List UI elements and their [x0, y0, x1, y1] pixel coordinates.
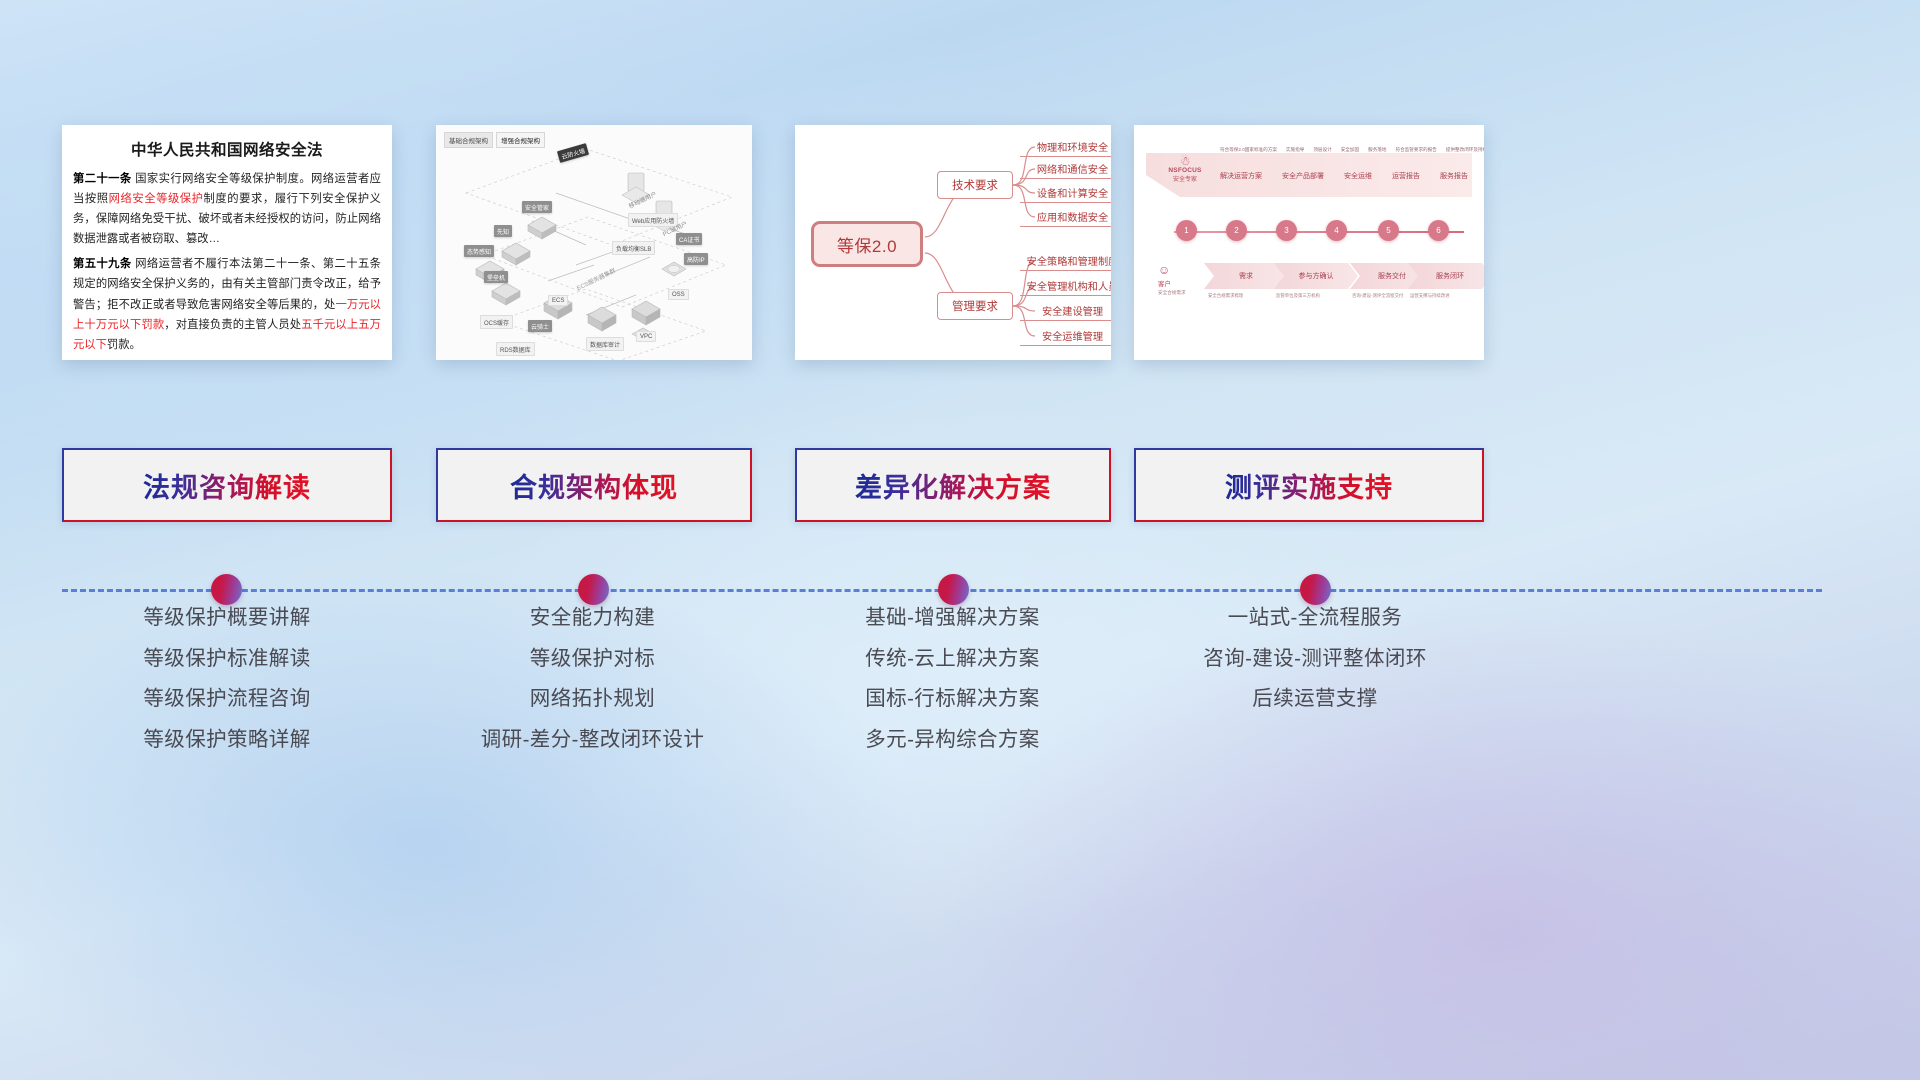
nsfocus-chevron-sub: 运营支撑与持续改进 — [1410, 293, 1450, 299]
preview-cards-row: 中华人民共和国网络安全法 第二十一条 国家实行网络安全等级保护制度。网络运营者应… — [0, 125, 1920, 365]
list-item: 一站式-全流程服务 — [1130, 608, 1500, 629]
nsfocus-step-dot: 1 — [1176, 220, 1197, 241]
nsfocus-step-dot: 3 — [1276, 220, 1297, 241]
card-cybersecurity-law[interactable]: 中华人民共和国网络安全法 第二十一条 国家实行网络安全等级保护制度。网络运营者应… — [62, 125, 392, 360]
list-item: 等级保护策略详解 — [62, 730, 392, 751]
section-titles-row: 法规咨询解读 合规架构体现 差异化解决方案 测评实施支持 — [0, 448, 1920, 522]
list-item: 多元-异构综合方案 — [790, 730, 1115, 751]
feature-list-assessment-support: 一站式-全流程服务 咨询-建设-测评整体闭环 后续运营支撑 — [1130, 608, 1500, 730]
feature-lists-row: 等级保护概要讲解 等级保护标准解读 等级保护流程咨询 等级保护策略详解 安全能力… — [0, 608, 1920, 828]
list-item: 等级保护流程咨询 — [62, 689, 392, 710]
arch-node-ocs-cache: OCS缓存 — [480, 315, 513, 329]
section-title-text: 法规咨询解读 — [143, 466, 311, 505]
list-item: 等级保护标准解读 — [62, 649, 392, 670]
nsfocus-brand-line1: NSFOCUS — [1156, 167, 1214, 174]
law-article-number: 第二十一条 — [73, 173, 132, 185]
arch-node-xianzhi: 先知 — [494, 225, 512, 237]
law-text-segment: ，对直接负责的主管人员处 — [164, 319, 301, 331]
mindmap-leaf: 安全策略和管理制度 — [1020, 253, 1111, 271]
list-item: 安全能力构建 — [420, 608, 765, 629]
nsfocus-brand-line2: 安全专家 — [1156, 174, 1214, 183]
list-item: 咨询-建设-测评整体闭环 — [1130, 649, 1500, 670]
list-item: 网络拓扑规划 — [420, 689, 765, 710]
nsfocus-top-tag-list: 符合等保2.0国家标准的方案 实施指导 顶层设计 安全加固 服务落地 符合监管要… — [1220, 147, 1484, 153]
nsfocus-chevron-sub: 安全合规需求梳理 — [1208, 293, 1243, 299]
section-title-box-regulation-consulting[interactable]: 法规咨询解读 — [62, 448, 392, 522]
section-title-box-compliance-architecture[interactable]: 合规架构体现 — [436, 448, 752, 522]
arch-node-oss: OSS — [668, 289, 689, 300]
architecture-diagram: 基础合规架构 增强合规架构 — [436, 125, 752, 360]
mindmap: 等保2.0 技术要求 管理要求 物理和环境安全 网络和通信安全 设备和计算安全 … — [795, 125, 1111, 360]
timeline-dot-3 — [938, 574, 969, 605]
mindmap-leaf: 设备和计算安全 — [1020, 185, 1111, 203]
nsfocus-top-tag: 安全加固 — [1341, 147, 1359, 153]
nsfocus-top-tag: 顶层设计 — [1313, 147, 1331, 153]
card-nsfocus-timeline[interactable]: ☃ NSFOCUS 安全专家 符合等保2.0国家标准的方案 实施指导 顶层设计 … — [1134, 125, 1484, 360]
law-paragraph: 第二十一条 国家实行网络安全等级保护制度。网络运营者应当按照网络安全等级保护制度… — [73, 169, 381, 249]
mindmap-root-node: 等保2.0 — [811, 221, 923, 267]
law-article-number: 第五十九条 — [73, 258, 132, 270]
list-item: 等级保护对标 — [420, 649, 765, 670]
feature-list-differentiated-solutions: 基础-增强解决方案 传统-云上解决方案 国标-行标解决方案 多元-异构综合方案 — [790, 608, 1115, 770]
nsfocus-step-dot: 5 — [1378, 220, 1399, 241]
law-text-highlight: 网络安全等级保护 — [109, 193, 204, 205]
section-title-box-differentiated-solutions[interactable]: 差异化解决方案 — [795, 448, 1111, 522]
nsfocus-mid-tag-list: 解决运营方案 安全产品部署 安全运维 运营报告 服务报告 — [1220, 171, 1468, 181]
mindmap-leaf: 安全管理机构和人员 — [1020, 278, 1111, 296]
timeline-dot-4 — [1300, 574, 1331, 605]
nsfocus-top-tag: 符合等保2.0国家标准的方案 — [1220, 147, 1277, 153]
list-item: 调研-差分-整改闭环设计 — [420, 730, 765, 751]
nsfocus-mid-tag: 解决运营方案 — [1220, 171, 1262, 181]
nsfocus-chevron: 服务闭环 — [1408, 263, 1484, 289]
list-item: 基础-增强解决方案 — [790, 608, 1115, 629]
arch-node-rds-database: RDS数据库 — [496, 342, 535, 356]
arch-node-situation-awareness: 态势感知 — [464, 245, 494, 257]
nsfocus-diagram: ☃ NSFOCUS 安全专家 符合等保2.0国家标准的方案 实施指导 顶层设计 … — [1134, 125, 1484, 360]
mindmap-leaf: 应用和数据安全 — [1020, 209, 1111, 227]
arch-node-bastion-host: 堡垒机 — [484, 271, 508, 283]
law-text-segment: 罚款。 — [107, 339, 141, 351]
section-title-text: 合规架构体现 — [510, 466, 678, 505]
list-item: 传统-云上解决方案 — [790, 649, 1115, 670]
timeline-connector — [0, 570, 1920, 610]
arch-node-database-audit: 数据库审计 — [586, 337, 624, 351]
nsfocus-mid-tag: 安全运维 — [1344, 171, 1372, 181]
nsfocus-top-tag: 服务落地 — [1368, 147, 1386, 153]
list-item: 国标-行标解决方案 — [790, 689, 1115, 710]
nsfocus-mid-tag: 安全产品部署 — [1282, 171, 1324, 181]
nsfocus-step-dot: 4 — [1326, 220, 1347, 241]
nsfocus-step-dot: 6 — [1428, 220, 1449, 241]
nsfocus-mid-tag: 运营报告 — [1392, 171, 1420, 181]
nsfocus-mid-tag: 服务报告 — [1440, 171, 1468, 181]
feature-list-compliance-architecture: 安全能力构建 等级保护对标 网络拓扑规划 调研-差分-整改闭环设计 — [420, 608, 765, 770]
timeline-dot-1 — [211, 574, 242, 605]
feature-list-regulation-consulting: 等级保护概要讲解 等级保护标准解读 等级保护流程咨询 等级保护策略详解 — [62, 608, 392, 770]
law-paragraph: 第五十九条 网络运营者不履行本法第二十一条、第二十五条规定的网络安全保护义务的，… — [73, 254, 381, 354]
law-card-title: 中华人民共和国网络安全法 — [62, 138, 392, 160]
arch-node-security-butler: 安全管家 — [522, 201, 552, 213]
nsfocus-timeline-line — [1174, 231, 1464, 233]
arch-node-ca-certificate: CA证书 — [676, 233, 702, 245]
section-title-text: 测评实施支持 — [1225, 466, 1393, 505]
nsfocus-inner: ☃ NSFOCUS 安全专家 符合等保2.0国家标准的方案 实施指导 顶层设计 … — [1146, 135, 1472, 348]
nsfocus-chevron-sub: 监管单位及第三方机构 — [1276, 293, 1320, 299]
nsfocus-top-tag: 符合监管要求的报告 — [1395, 147, 1436, 153]
list-item: 后续运营支撑 — [1130, 689, 1500, 710]
arch-node-ecs: ECS — [548, 295, 568, 306]
nsfocus-chevron: 需求 — [1204, 263, 1288, 289]
section-title-box-assessment-support[interactable]: 测评实施支持 — [1134, 448, 1484, 522]
arch-node-anti-ddos-ip: 高防IP — [684, 253, 708, 265]
nsfocus-chevron: 参与方确认 — [1274, 263, 1358, 289]
nsfocus-top-tag: 实施指导 — [1286, 147, 1304, 153]
arch-node-cloud-knight: 云骑士 — [528, 320, 552, 332]
mindmap-leaf: 网络和通信安全 — [1020, 161, 1111, 179]
card-mindmap-dengbao[interactable]: 等保2.0 技术要求 管理要求 物理和环境安全 网络和通信安全 设备和计算安全 … — [795, 125, 1111, 360]
arch-node-vpc: VPC — [636, 331, 656, 342]
list-item: 等级保护概要讲解 — [62, 608, 392, 629]
nsfocus-top-tag: 提供整改闭环及持续安全运营 — [1446, 147, 1484, 153]
expert-person-icon: ☃ — [1156, 155, 1214, 167]
mindmap-branch-technical: 技术要求 — [937, 171, 1013, 199]
card-compliance-architecture[interactable]: 基础合规架构 增强合规架构 — [436, 125, 752, 360]
nsfocus-chevron-sub: 咨询-建设-测评全流程交付 — [1352, 293, 1403, 299]
timeline-dot-2 — [578, 574, 609, 605]
mindmap-leaf: 安全建设管理 — [1020, 303, 1111, 321]
section-title-text: 差异化解决方案 — [855, 466, 1051, 505]
arch-node-load-balancer-slb: 负载均衡SLB — [612, 241, 655, 255]
law-card-body: 第二十一条 国家实行网络安全等级保护制度。网络运营者应当按照网络安全等级保护制度… — [62, 169, 392, 355]
mindmap-branch-management: 管理要求 — [937, 292, 1013, 320]
mindmap-leaf: 安全运维管理 — [1020, 328, 1111, 346]
nsfocus-brand: ☃ NSFOCUS 安全专家 — [1156, 155, 1214, 183]
nsfocus-step-dot: 2 — [1226, 220, 1247, 241]
mindmap-leaf: 物理和环境安全 — [1020, 139, 1111, 157]
